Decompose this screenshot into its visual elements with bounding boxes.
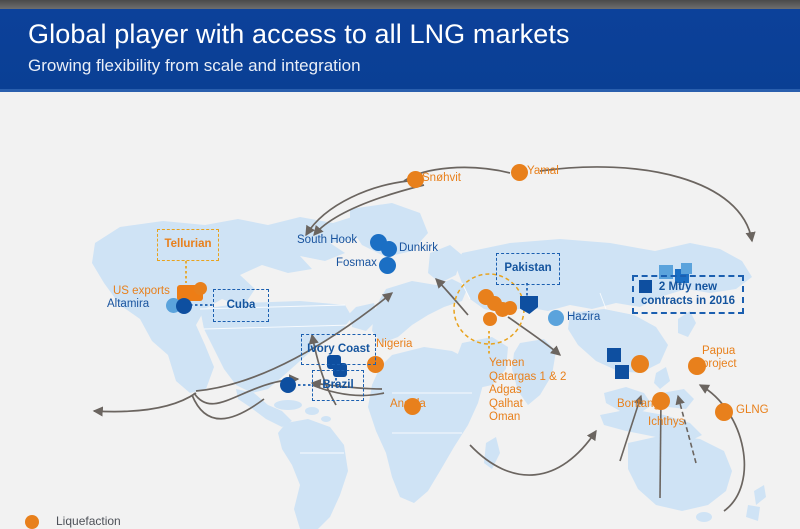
legend-item-liquefaction: Liquefaction [22,511,312,529]
marker-asia-sales-5[interactable] [607,348,621,362]
slide-root: Global player with access to all LNG mar… [0,0,800,529]
callout-ivory-coast-label: Ivory Coast [307,343,370,357]
label-papua-project: Papua project [702,345,748,371]
callout-tellurian[interactable]: Tellurian [157,229,219,261]
marker-yamal[interactable] [511,164,528,181]
label-ichthys: Ichthys [648,416,684,429]
label-glng: GLNG [736,404,769,417]
label-hazira: Hazira [567,311,600,324]
marker-cuba[interactable] [176,298,192,314]
label-dunkirk: Dunkirk [399,242,438,255]
marker-hazira[interactable] [548,310,564,326]
callout-pakistan[interactable]: Pakistan [496,253,560,285]
window-chrome-strip [0,0,800,9]
page-title: Global player with access to all LNG mar… [28,19,570,50]
label-nigeria: Nigeria [376,338,412,351]
marker-me-5[interactable] [483,312,497,326]
marker-fosmax[interactable] [379,257,396,274]
callout-cuba-label: Cuba [227,299,256,313]
label-snohvit: Snøhvit [422,172,461,185]
marker-brazil[interactable] [280,377,296,393]
legend: Liquefaction Long term purchase Existing… [22,511,312,529]
callout-new-contracts-label: 2 Mt/y new contracts in 2016 [638,281,738,308]
label-middle-east-cluster: Yemen Qatargas 1 & 2 Adgas Qalhat Oman [489,357,566,425]
legend-label-liquefaction: Liquefaction [56,514,121,528]
label-us-exports: US exports [113,285,170,298]
marker-us-exports-dot[interactable] [194,282,207,295]
marker-glng[interactable] [715,403,733,421]
marker-asia-sales-6[interactable] [615,365,629,379]
callout-cuba[interactable]: Cuba [213,289,269,322]
marker-dunkirk[interactable] [381,241,397,257]
callout-brazil[interactable]: Brazil [312,370,364,401]
marker-bontang[interactable] [631,355,649,373]
callout-brazil-label: Brazil [322,379,353,393]
marker-me-4[interactable] [503,301,517,315]
callout-tellurian-label: Tellurian [164,238,211,252]
callout-new-contracts[interactable]: 2 Mt/y new contracts in 2016 [632,275,744,314]
label-angola: Angola [390,398,426,411]
world-map-stage: US exports Altamira Snøhvit Yamal South … [0,93,800,529]
liquefaction-circle-icon [25,515,39,529]
callout-ivory-coast[interactable]: Ivory Coast [301,334,376,365]
callout-pakistan-label: Pakistan [504,262,551,276]
label-south-hook: South Hook [297,234,357,247]
label-fosmax: Fosmax [336,257,377,270]
page-subtitle: Growing flexibility from scale and integ… [28,56,361,76]
label-bontang: Bontang [617,398,660,411]
label-altamira: Altamira [107,298,149,311]
header-underline [0,89,800,92]
label-yamal: Yamal [527,165,559,178]
marker-asia-sales-3[interactable] [681,263,692,274]
